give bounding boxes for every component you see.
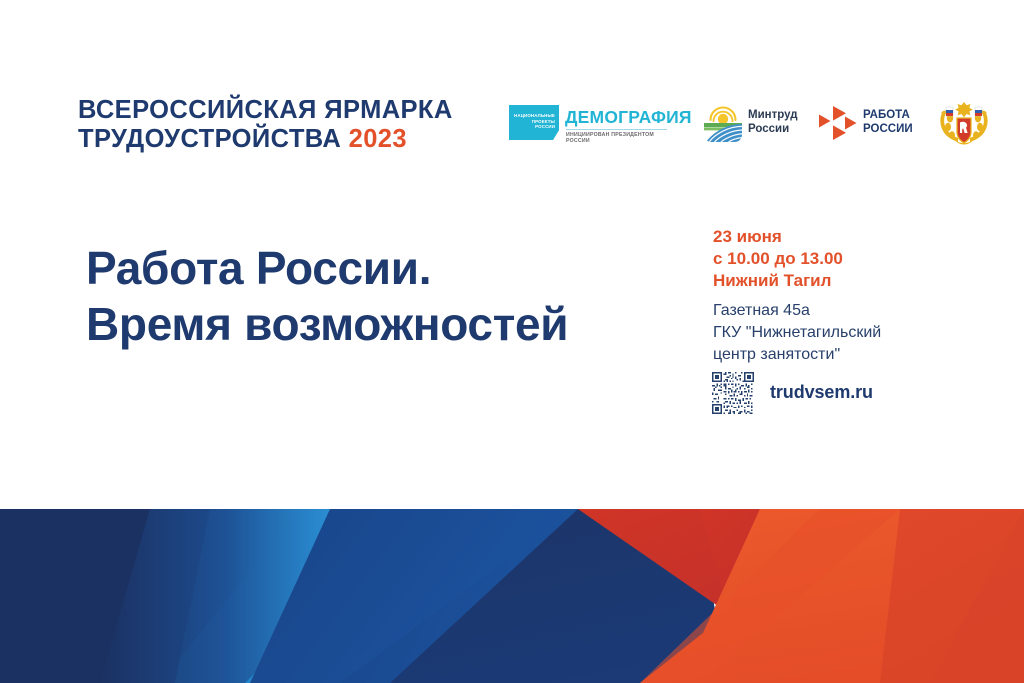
demografia-subtitle: ИНИЦИИРОВАН ПРЕЗИДЕНТОМ РОССИИ [566,132,669,144]
header-row: ВСЕРОССИЙСКАЯ ЯРМАРКА ТРУДОУСТРОЙСТВА 20… [0,96,1024,156]
fair-title-year: 2023 [349,125,407,153]
page-title: Работа России. Время возможностей [86,240,568,352]
four-triangles-icon [819,106,857,140]
rabota-label: РАБОТА РОССИИ [863,109,913,136]
national-projects-badge: НАЦИОНАЛЬНЫЕ ПРОЕКТЫ РОССИИ [509,105,559,140]
website-url[interactable]: trudvsem.ru [770,382,873,403]
mintrud-label: Минтруд России [748,109,798,136]
decorative-footer-art [0,509,1024,683]
sun-field-water-emblem-icon [704,104,742,142]
event-address: Газетная 45а ГКУ "Нижнетагильский центр … [713,300,881,366]
demografia-wordmark: ДЕМОГРАФИЯ [565,107,692,128]
fair-title: ВСЕРОССИЙСКАЯ ЯРМАРКА ТРУДОУСТРОЙСТВА 20… [78,96,453,154]
poster-canvas: ВСЕРОССИЙСКАЯ ЯРМАРКА ТРУДОУСТРОЙСТВА 20… [0,0,1024,683]
logo-demografia: НАЦИОНАЛЬНЫЕ ПРОЕКТЫ РОССИИ ДЕМОГРАФИЯ И… [509,100,669,148]
demografia-divider [566,129,667,130]
logo-rabota-rossii: РАБОТА РОССИИ [819,102,924,146]
np-badge-line3: РОССИИ [535,124,555,130]
qr-code-icon[interactable] [712,372,754,414]
logo-mintrud-rossii: Минтруд России [704,102,804,146]
sverdlovsk-oblast-coat-of-arms-icon [938,99,990,149]
event-datetime-location: 23 июня с 10.00 до 13.00 Нижний Тагил [713,226,843,292]
website-row[interactable]: trudvsem.ru [712,372,912,414]
